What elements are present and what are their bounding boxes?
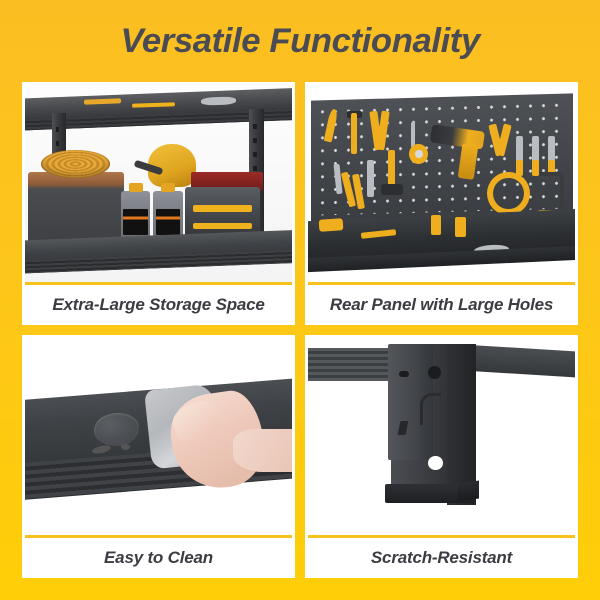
hacksaw-icon bbox=[540, 172, 564, 215]
hammer-handle-icon bbox=[351, 113, 357, 154]
post-hole-lower bbox=[428, 456, 443, 470]
coiled-hose-icon bbox=[41, 150, 110, 178]
feature-card-scratch-resistant[interactable]: Scratch-Resistant bbox=[305, 335, 578, 578]
infographic-page: Versatile Functionality bbox=[0, 0, 600, 600]
caption-bar: Easy to Clean bbox=[25, 538, 292, 578]
photo-rear-panel-with-large-holes bbox=[308, 85, 575, 282]
title-bar: Versatile Functionality bbox=[0, 0, 600, 82]
screwdriver-grip-2 bbox=[532, 160, 539, 176]
air-hose-coil-icon bbox=[487, 172, 530, 215]
tool-chest bbox=[28, 172, 124, 243]
caption-text: Extra-Large Storage Space bbox=[52, 295, 264, 315]
bench-tape-measure bbox=[318, 218, 343, 231]
feature-card-rear-panel-with-large-holes[interactable]: Rear Panel with Large Holes bbox=[305, 82, 578, 325]
caption-text: Rear Panel with Large Holes bbox=[330, 295, 553, 315]
mallet-handle-icon bbox=[388, 150, 395, 187]
photo-easy-to-clean bbox=[25, 338, 292, 535]
caption-text: Easy to Clean bbox=[104, 548, 213, 568]
top-shelf-tool-icon bbox=[84, 98, 121, 104]
mallet-head-icon bbox=[381, 184, 402, 196]
plastic-foot-cap-side bbox=[458, 480, 479, 501]
staple-gun-icon-1 bbox=[431, 215, 442, 235]
staple-gun-icon-2 bbox=[455, 217, 466, 237]
caption-bar: Rear Panel with Large Holes bbox=[308, 285, 575, 325]
page-title: Versatile Functionality bbox=[120, 22, 479, 61]
caption-bar: Extra-Large Storage Space bbox=[25, 285, 292, 325]
caption-text: Scratch-Resistant bbox=[371, 548, 512, 568]
power-blower-icon bbox=[148, 144, 196, 187]
bracket-curve-detail bbox=[420, 393, 441, 425]
adjustable-wrench-icon bbox=[367, 160, 374, 197]
caption-bar: Scratch-Resistant bbox=[308, 538, 575, 578]
tape-measure-icon bbox=[409, 144, 428, 164]
feature-card-easy-to-clean[interactable]: Easy to Clean bbox=[22, 335, 295, 578]
feature-card-extra-large-storage-space[interactable]: Extra-Large Storage Space bbox=[22, 82, 295, 325]
feature-card-grid: Extra-Large Storage Space bbox=[22, 82, 578, 578]
photo-scratch-resistant bbox=[308, 338, 575, 535]
forearm bbox=[233, 429, 292, 472]
photo-extra-large-storage-space bbox=[25, 85, 292, 282]
